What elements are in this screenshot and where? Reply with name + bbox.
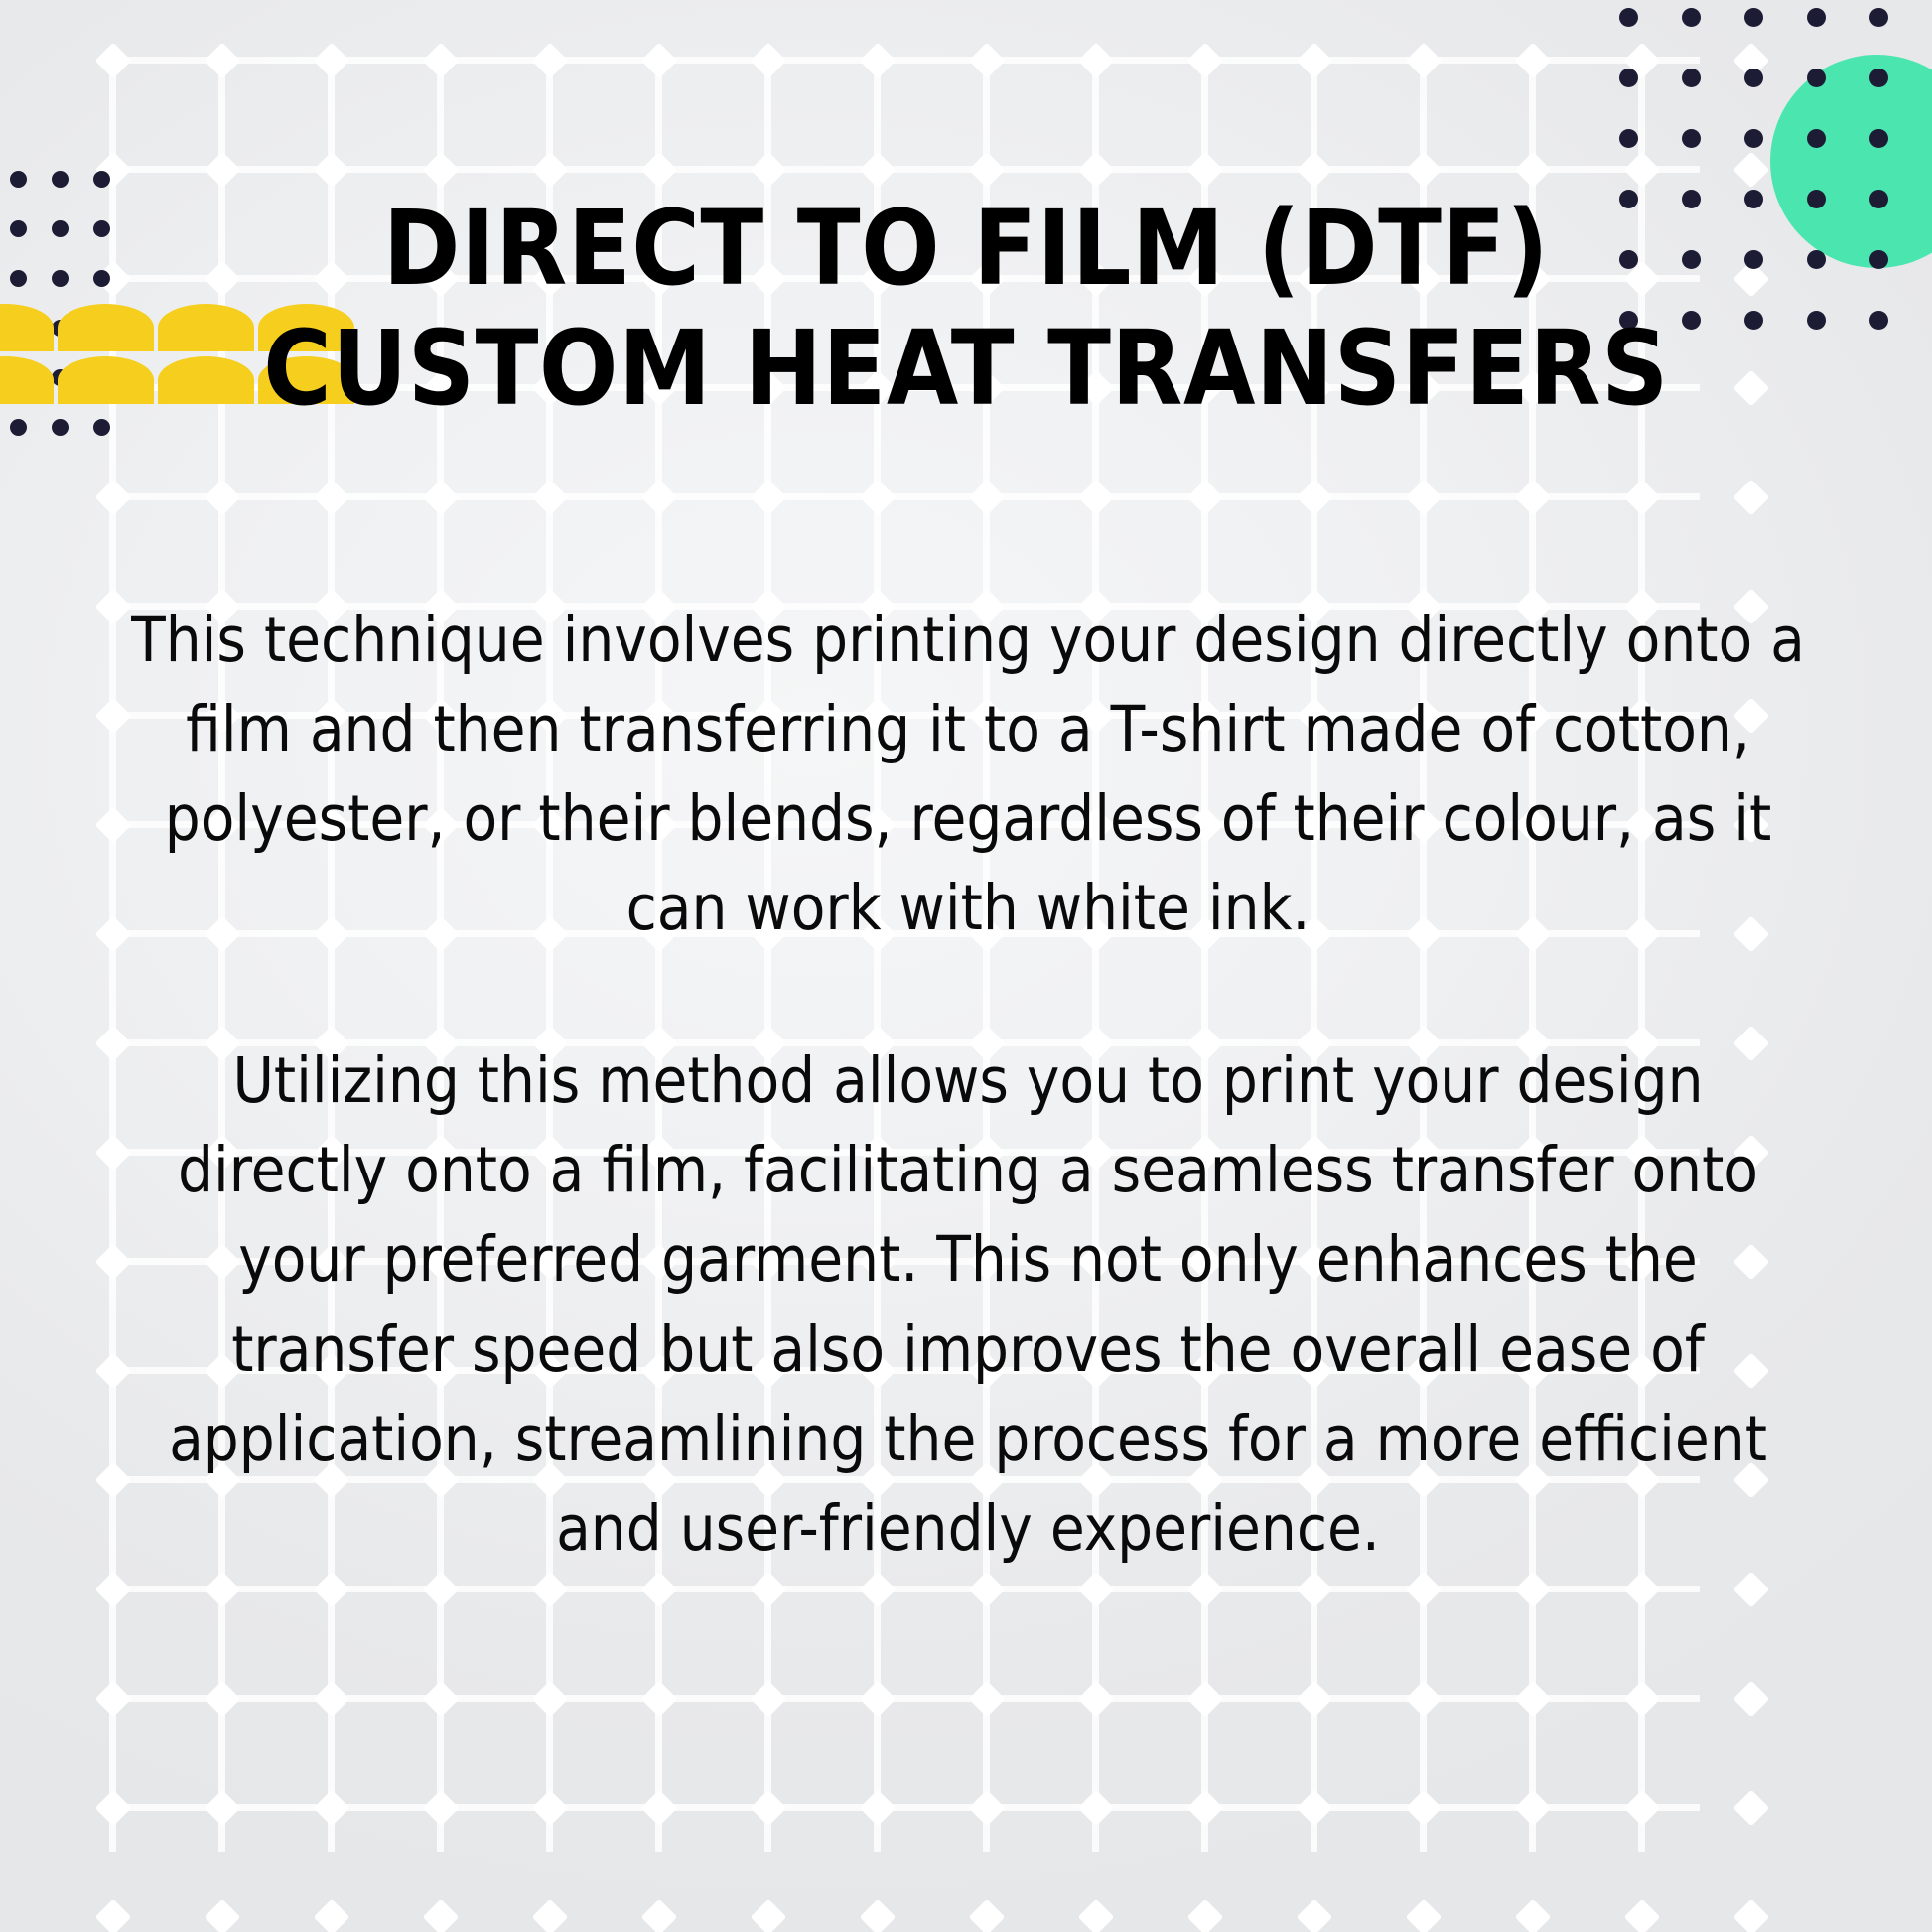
poster-content: DIRECT TO FILM (DTF) CUSTOM HEAT TRANSFE…	[0, 0, 1932, 1932]
body-paragraph-2: Utilizing this method allows you to prin…	[129, 1036, 1807, 1573]
body-copy: This technique involves printing your de…	[129, 596, 1807, 1574]
body-paragraph-1: This technique involves printing your de…	[129, 596, 1807, 953]
page-title: DIRECT TO FILM (DTF) CUSTOM HEAT TRANSFE…	[139, 189, 1793, 428]
poster-canvas: DIRECT TO FILM (DTF) CUSTOM HEAT TRANSFE…	[0, 0, 1932, 1932]
page-title-line-2: CUSTOM HEAT TRANSFERS	[139, 309, 1793, 429]
page-title-line-1: DIRECT TO FILM (DTF)	[139, 189, 1793, 309]
